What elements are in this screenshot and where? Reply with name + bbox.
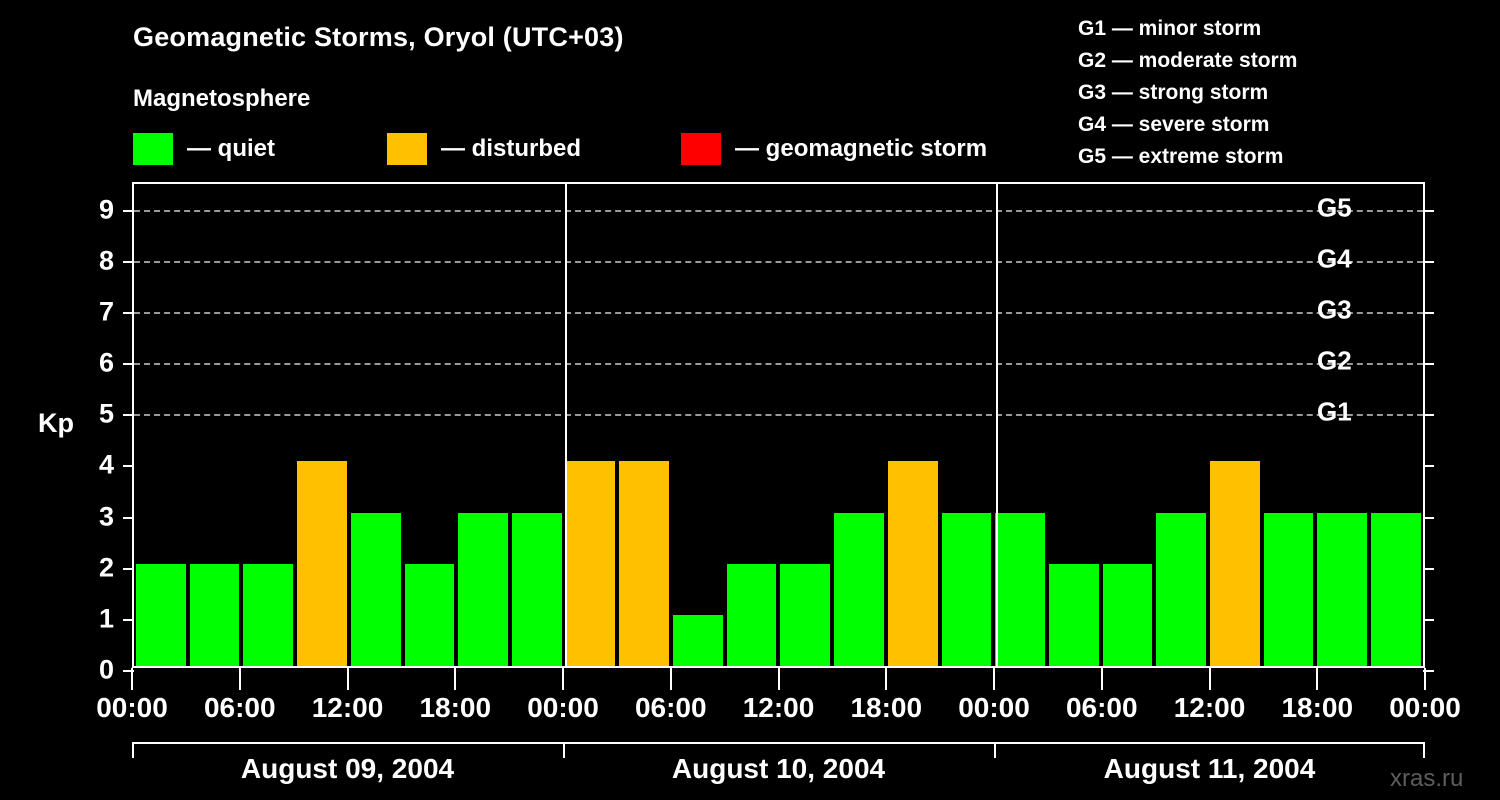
y-axis-label-3: 3 [54, 501, 114, 532]
x-axis-label: 12:00 [1174, 692, 1246, 724]
bar-series [134, 184, 1423, 666]
x-tick [454, 668, 456, 690]
bar-cell[interactable] [1047, 184, 1101, 666]
bar-cell[interactable] [188, 184, 242, 666]
date-bracket [132, 742, 1425, 744]
right-axis-label-g1: G1 [1317, 397, 1352, 428]
bar-cell[interactable] [564, 184, 618, 666]
x-tick [1101, 668, 1103, 690]
y-tick-right-9 [1423, 210, 1434, 212]
x-tick [1316, 668, 1318, 690]
legend-item-disturbed: — disturbed [387, 133, 581, 165]
x-axis-label: 06:00 [635, 692, 707, 724]
g-scale-item-g3: G3 — strong storm [1078, 77, 1297, 109]
date-label-day-2: August 10, 2004 [672, 753, 885, 785]
bar-cell[interactable] [1369, 184, 1423, 666]
date-bracket-tick [563, 742, 565, 758]
x-axis-label: 18:00 [850, 692, 922, 724]
y-tick-right-7 [1423, 312, 1434, 314]
legend-label-disturbed: — disturbed [441, 135, 581, 163]
y-tick-5 [123, 414, 134, 416]
bar-cell[interactable] [832, 184, 886, 666]
y-tick-6 [123, 363, 134, 365]
bar[interactable] [190, 564, 240, 666]
bar-cell[interactable] [940, 184, 994, 666]
bar[interactable] [351, 513, 401, 666]
y-tick-7 [123, 312, 134, 314]
y-tick-8 [123, 261, 134, 263]
x-axis-label: 12:00 [312, 692, 384, 724]
bar-cell[interactable] [134, 184, 188, 666]
x-axis-label: 18:00 [1281, 692, 1353, 724]
page-title: Geomagnetic Storms, Oryol (UTC+03) [133, 22, 624, 53]
bar-cell[interactable] [349, 184, 403, 666]
y-tick-right-2 [1423, 568, 1434, 570]
x-tick [239, 668, 241, 690]
bar[interactable] [405, 564, 455, 666]
bar[interactable] [243, 564, 293, 666]
bar-cell[interactable] [1262, 184, 1316, 666]
bar[interactable] [1317, 513, 1367, 666]
g-scale-item-g1: G1 — minor storm [1078, 13, 1297, 45]
legend: — quiet— disturbed— geomagnetic storm [133, 133, 987, 165]
x-tick [885, 668, 887, 690]
bar[interactable] [995, 513, 1045, 666]
bar-cell[interactable] [1101, 184, 1155, 666]
gridline-kp-9 [134, 210, 1423, 212]
x-tick [670, 668, 672, 690]
legend-item-geomagnetic-storm: — geomagnetic storm [681, 133, 987, 165]
bar[interactable] [834, 513, 884, 666]
bar-cell[interactable] [403, 184, 457, 666]
day-separator [996, 184, 998, 666]
bar[interactable] [673, 615, 723, 666]
bar[interactable] [297, 461, 347, 666]
bar-cell[interactable] [1208, 184, 1262, 666]
day-separator [565, 184, 567, 666]
y-tick-right-6 [1423, 363, 1434, 365]
x-axis-label: 12:00 [743, 692, 815, 724]
bar[interactable] [512, 513, 562, 666]
g-scale-item-g4: G4 — severe storm [1078, 109, 1297, 141]
bar[interactable] [727, 564, 777, 666]
gridline-kp-6 [134, 363, 1423, 365]
date-bracket-tick [994, 742, 996, 758]
bar[interactable] [888, 461, 938, 666]
g-scale-item-g2: G2 — moderate storm [1078, 45, 1297, 77]
date-bracket-tick [132, 742, 134, 758]
y-tick-1 [123, 619, 134, 621]
bar-cell[interactable] [295, 184, 349, 666]
y-axis-label-2: 2 [54, 552, 114, 583]
bar-cell[interactable] [510, 184, 564, 666]
x-tick [131, 668, 133, 690]
g-scale-legend: G1 — minor stormG2 — moderate stormG3 — … [1078, 13, 1297, 173]
y-axis-label-9: 9 [54, 194, 114, 225]
y-tick-4 [123, 465, 134, 467]
magnetosphere-label: Magnetosphere [133, 85, 310, 113]
right-axis-label-g5: G5 [1317, 192, 1352, 223]
bar-cell[interactable] [671, 184, 725, 666]
bar[interactable] [458, 513, 508, 666]
bar[interactable] [1371, 513, 1421, 666]
bar[interactable] [1264, 513, 1314, 666]
y-axis-label-5: 5 [54, 399, 114, 430]
bar[interactable] [1049, 564, 1099, 666]
bar[interactable] [136, 564, 186, 666]
right-axis-label-g2: G2 [1317, 346, 1352, 377]
x-axis-label: 06:00 [1066, 692, 1138, 724]
x-axis-label: 00:00 [527, 692, 599, 724]
gridline-kp-5 [134, 414, 1423, 416]
x-axis-label: 18:00 [419, 692, 491, 724]
bar[interactable] [566, 461, 616, 666]
x-tick [993, 668, 995, 690]
right-axis-label-g3: G3 [1317, 294, 1352, 325]
y-axis-label-8: 8 [54, 245, 114, 276]
y-axis-label-6: 6 [54, 348, 114, 379]
bar[interactable] [1103, 564, 1153, 666]
bar[interactable] [1210, 461, 1260, 666]
legend-label-quiet: — quiet [187, 135, 275, 163]
right-axis-label-g4: G4 [1317, 243, 1352, 274]
date-bracket-tick [1423, 742, 1425, 758]
x-tick [778, 668, 780, 690]
y-tick-3 [123, 517, 134, 519]
x-tick [1209, 668, 1211, 690]
date-label-day-3: August 11, 2004 [1104, 753, 1316, 785]
bar[interactable] [942, 513, 992, 666]
y-tick-9 [123, 210, 134, 212]
bar[interactable] [619, 461, 669, 666]
x-axis-label: 00:00 [958, 692, 1030, 724]
bar-cell[interactable] [617, 184, 671, 666]
y-tick-2 [123, 568, 134, 570]
legend-label-geomagnetic-storm: — geomagnetic storm [735, 135, 987, 163]
y-tick-right-4 [1423, 465, 1434, 467]
x-tick [1424, 668, 1426, 690]
y-axis-label-7: 7 [54, 296, 114, 327]
bar-cell[interactable] [456, 184, 510, 666]
y-axis-label-1: 1 [54, 603, 114, 634]
gridline-kp-8 [134, 261, 1423, 263]
y-axis-label-0: 0 [54, 655, 114, 686]
bar[interactable] [1156, 513, 1206, 666]
bar-cell[interactable] [886, 184, 940, 666]
x-tick [562, 668, 564, 690]
chart-plot-area: 0123456789 [132, 182, 1425, 668]
date-label-day-1: August 09, 2004 [241, 753, 454, 785]
bar-cell[interactable] [725, 184, 779, 666]
bar[interactable] [780, 564, 830, 666]
x-axis-label: 06:00 [204, 692, 276, 724]
x-axis-label: 00:00 [1389, 692, 1461, 724]
x-axis-label: 00:00 [96, 692, 168, 724]
y-tick-right-8 [1423, 261, 1434, 263]
watermark: xras.ru [1390, 765, 1463, 793]
legend-swatch-geomagnetic-storm [681, 133, 721, 165]
bar-cell[interactable] [993, 184, 1047, 666]
gridline-kp-7 [134, 312, 1423, 314]
legend-swatch-disturbed [387, 133, 427, 165]
y-tick-right-5 [1423, 414, 1434, 416]
legend-swatch-quiet [133, 133, 173, 165]
bar-cell[interactable] [778, 184, 832, 666]
g-scale-item-g5: G5 — extreme storm [1078, 141, 1297, 173]
x-tick [347, 668, 349, 690]
bar-cell[interactable] [241, 184, 295, 666]
legend-item-quiet: — quiet [133, 133, 275, 165]
y-tick-right-1 [1423, 619, 1434, 621]
bar-cell[interactable] [1154, 184, 1208, 666]
y-axis-label-4: 4 [54, 450, 114, 481]
y-tick-right-3 [1423, 517, 1434, 519]
